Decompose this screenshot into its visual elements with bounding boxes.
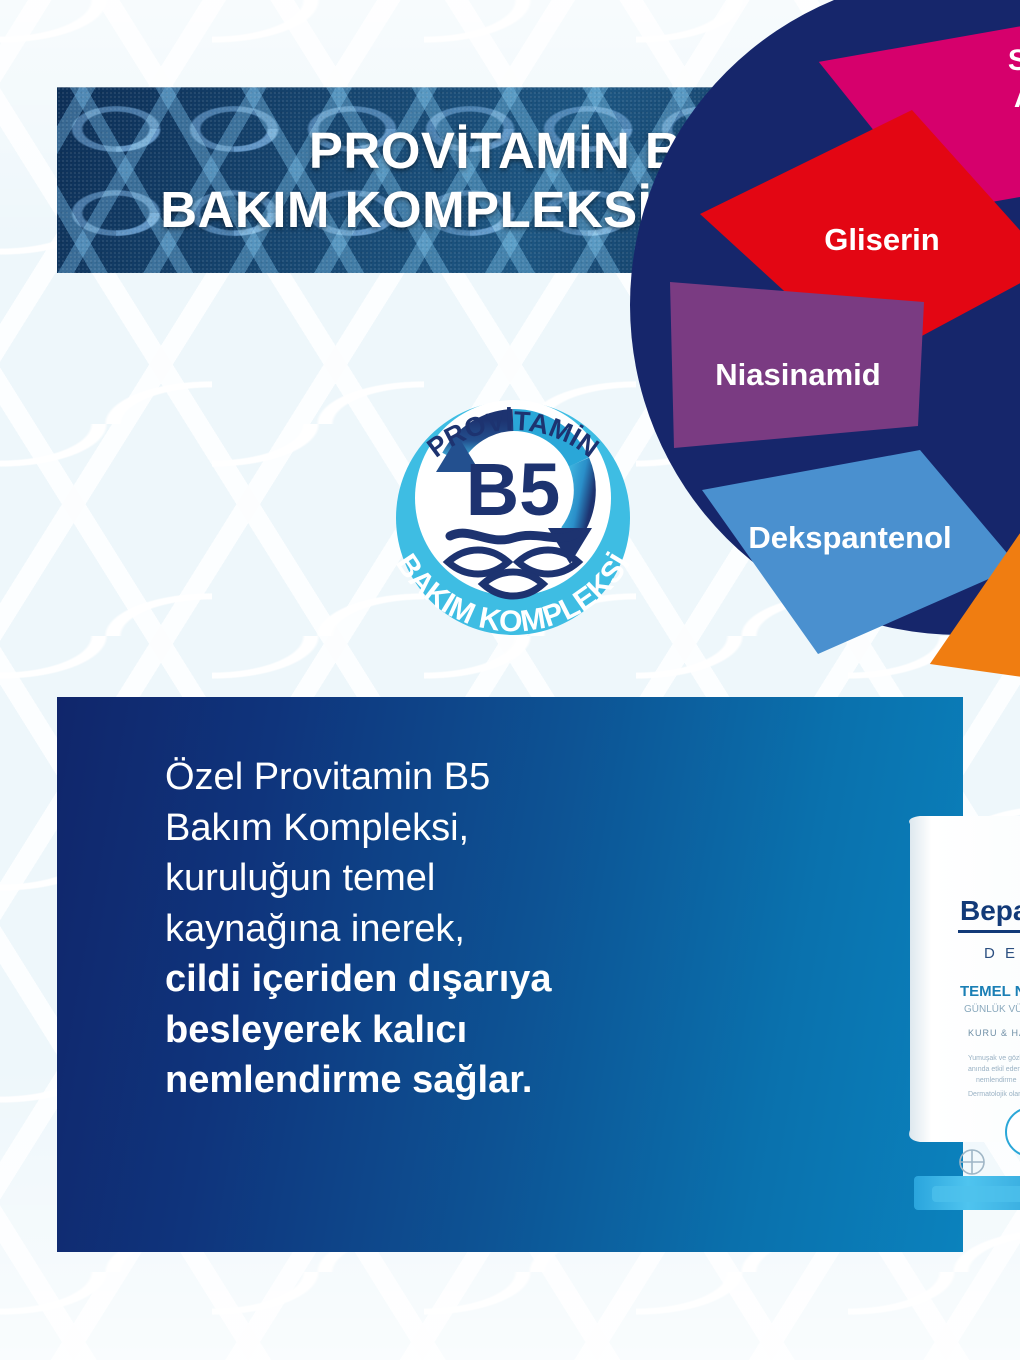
header-banner: PROVİTAMİN B5 BAKIM KOMPLEKSİ NEDİR? — [57, 87, 963, 273]
panel-line-1: Özel Provitamin B5 — [165, 752, 635, 803]
tube-cap-highlight — [932, 1186, 1020, 1202]
tube-claim-2: GÜNLÜK VÜCU — [964, 1003, 1020, 1015]
info-panel: Özel Provitamin B5 Bakım Kompleksi, kuru… — [57, 697, 963, 1252]
product-tube: Bepan D E R TEMEL NEMİ GÜNLÜK VÜCU KURU … — [898, 810, 1020, 1210]
tube-body-text-2: anında etkil eden ve — [968, 1066, 1020, 1073]
tube-claim-1: TEMEL NEMİ — [960, 983, 1020, 1000]
panel-line-3: kuruluğun temel — [165, 853, 635, 904]
banner-title-line-2: BAKIM KOMPLEKSİ NEDİR? — [160, 180, 860, 239]
panel-paragraph: Özel Provitamin B5 Bakım Kompleksi, kuru… — [165, 752, 635, 1106]
panel-line-6: besleyerek kalıcı — [165, 1005, 635, 1056]
tube-body-text-1: Yumuşak ve gözle — [968, 1055, 1020, 1062]
panel-line-4: kaynağına inerek, — [165, 904, 635, 955]
tube-body-text-4: Dermatolojik olarak — [968, 1091, 1020, 1098]
tube-claim-3: KURU & HASSA — [968, 1028, 1020, 1038]
product-infographic-page: PROVİTAMİN B5 BAKIM KOMPLEKSİ NEDİR? — [0, 0, 1020, 1360]
banner-title-line-1: PROVİTAMİN B5 — [309, 121, 711, 180]
panel-line-7: nemlendirme sağlar. — [165, 1055, 635, 1106]
tube-brand-underline — [958, 930, 1020, 933]
panel-line-2: Bakım Kompleksi, — [165, 803, 635, 854]
tube-brand-label: Bepan — [960, 895, 1020, 926]
tube-sub-label: D E R — [984, 945, 1020, 962]
provitamin-b5-badge: B5 PROVİTAMİN BAKIM KOMPLEKSİ — [370, 322, 656, 638]
tube-body-text-3: nemlendirme — [976, 1077, 1017, 1084]
panel-line-5: cildi içeriden dışarıya — [165, 954, 635, 1005]
bayer-cross-icon — [960, 1150, 984, 1174]
badge-center-label: B5 — [466, 448, 561, 531]
